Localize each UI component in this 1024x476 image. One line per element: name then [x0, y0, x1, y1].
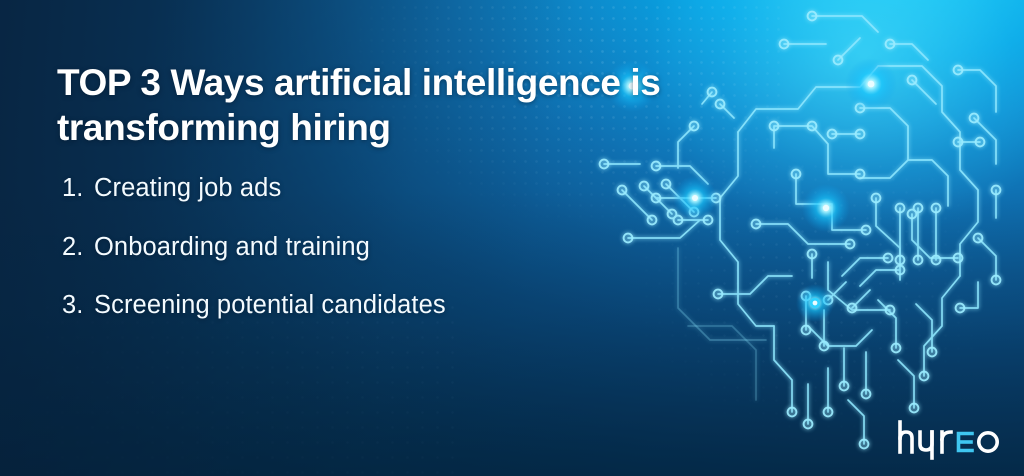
list-item: 1. Creating job ads — [62, 176, 682, 202]
logo-accent-e — [959, 434, 973, 451]
list-item-label: Creating job ads — [94, 176, 281, 202]
list-item-label: Screening potential candidates — [94, 293, 446, 319]
list-item-number: 1. — [62, 176, 94, 202]
hyreo-logo[interactable] — [896, 416, 1002, 462]
ways-list: 1. Creating job ads 2. Onboarding and tr… — [62, 176, 682, 319]
page-title: TOP 3 Ways artificial intelligence is tr… — [57, 61, 677, 151]
list-item-label: Onboarding and training — [94, 235, 370, 261]
hyreo-wordmark — [896, 418, 1002, 462]
list-item-number: 3. — [62, 293, 94, 319]
banner-canvas: TOP 3 Ways artificial intelligence is tr… — [0, 0, 1024, 476]
list-item: 3. Screening potential candidates — [62, 293, 682, 319]
list-item: 2. Onboarding and training — [62, 235, 682, 261]
list-item-number: 2. — [62, 235, 94, 261]
